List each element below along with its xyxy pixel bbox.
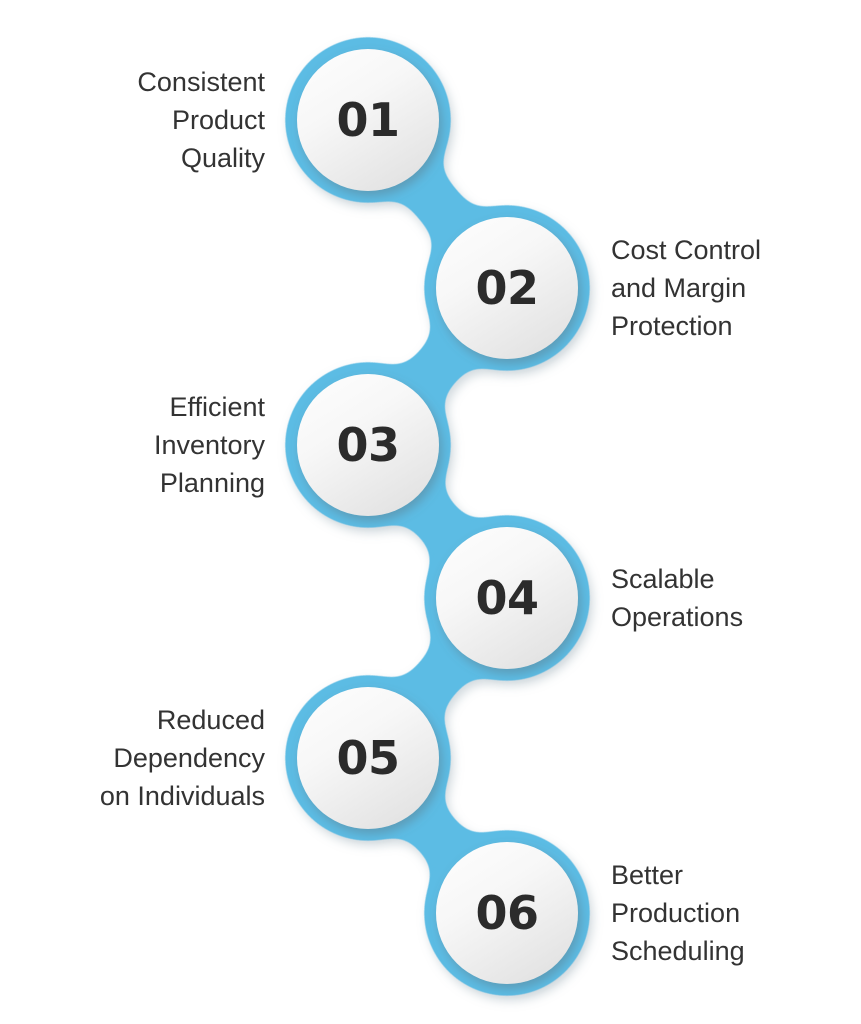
face-03 (297, 374, 439, 516)
face-04 (436, 527, 578, 669)
step-label-03: Efficient Inventory Planning (154, 388, 265, 502)
face-06 (436, 842, 578, 984)
chain-goo-group (285, 37, 590, 996)
step-label-02: Cost Control and Margin Protection (611, 231, 761, 345)
face-01 (297, 49, 439, 191)
step-label-01: Consistent Product Quality (137, 63, 265, 177)
step-label-05: Reduced Dependency on Individuals (100, 701, 265, 815)
face-02 (436, 217, 578, 359)
chain-shadow-group (285, 37, 590, 996)
step-label-04: Scalable Operations (611, 560, 743, 636)
face-05 (297, 687, 439, 829)
step-label-06: Better Production Scheduling (611, 856, 745, 970)
infographic-canvas: 010203040506 Consistent Product QualityC… (0, 0, 861, 1024)
